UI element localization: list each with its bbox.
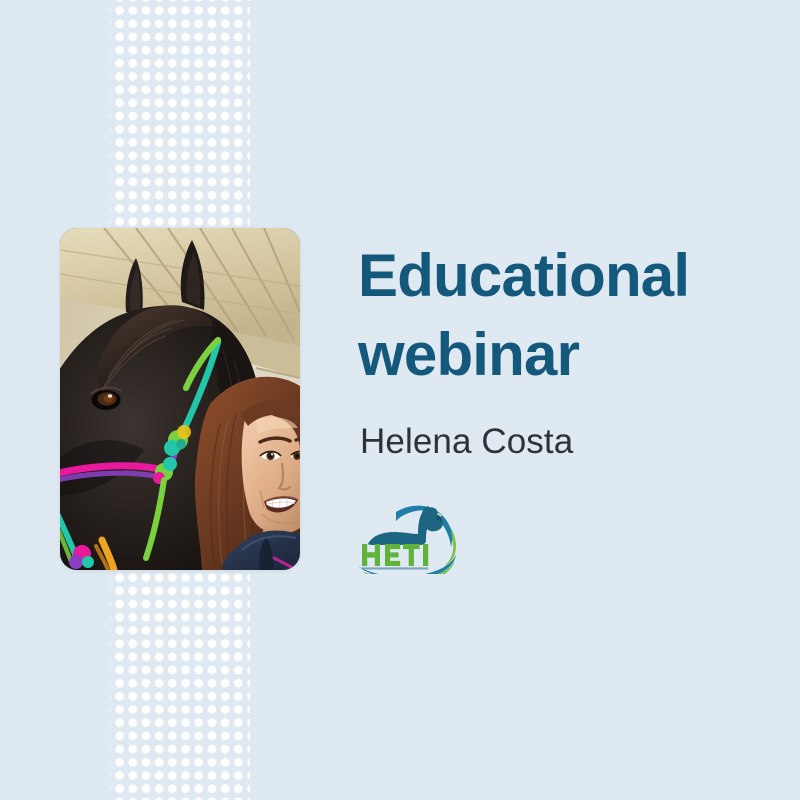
text-column: Educational webinar Helena Costa bbox=[358, 236, 758, 462]
heti-logo-icon bbox=[356, 500, 460, 574]
webinar-promo-poster: Educational webinar Helena Costa bbox=[0, 0, 800, 800]
page-title: Educational webinar bbox=[358, 236, 758, 394]
logo-tagline-microtext bbox=[362, 567, 428, 569]
presenter-name: Helena Costa bbox=[360, 422, 758, 462]
presenter-photo bbox=[60, 228, 300, 570]
presenter-photo-illustration bbox=[60, 228, 300, 570]
heti-logo bbox=[356, 500, 460, 574]
